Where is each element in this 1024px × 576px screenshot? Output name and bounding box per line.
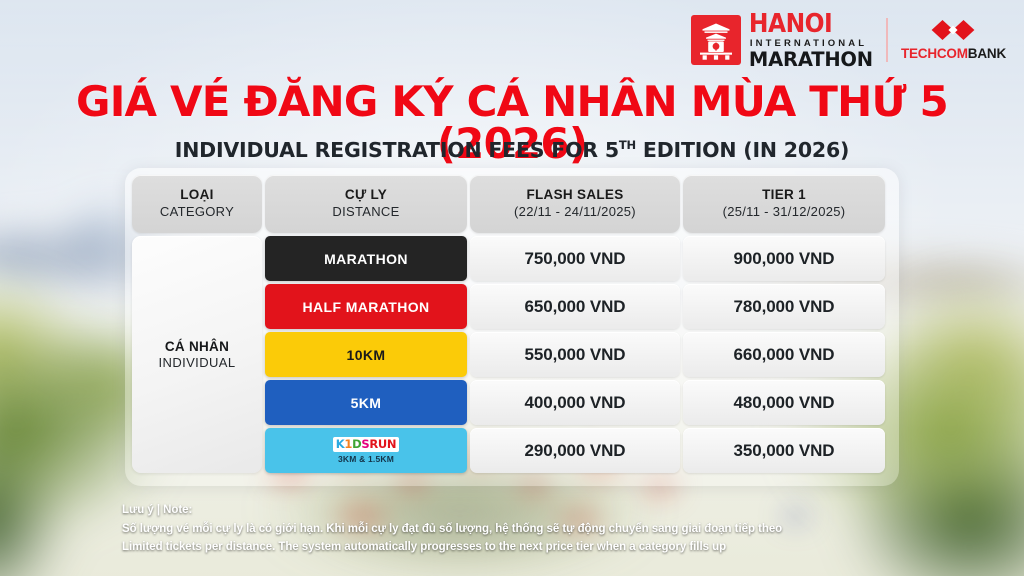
category-cell-individual: CÁ NHÂN INDIVIDUAL bbox=[132, 236, 262, 473]
column-header-category-vi: LOẠI bbox=[180, 187, 213, 204]
table-row: 10KM 550,000 VND 660,000 VND bbox=[265, 332, 892, 377]
table-row: HALF MARATHON 650,000 VND 780,000 VND bbox=[265, 284, 892, 329]
double-diamond-icon bbox=[930, 19, 976, 41]
price-tier-1: 480,000 VND bbox=[683, 380, 885, 425]
distance-label: MARATHON bbox=[324, 251, 408, 267]
price-flash-sales: 400,000 VND bbox=[470, 380, 680, 425]
techcombank-name-dark: BANK bbox=[968, 46, 1006, 61]
pagoda-icon bbox=[691, 15, 741, 65]
techcombank-name-red: TECHCOM bbox=[901, 46, 968, 61]
price-flash-sales: 750,000 VND bbox=[470, 236, 680, 281]
price-tier-1: 660,000 VND bbox=[683, 332, 885, 377]
column-header-distance: CỰ LY DISTANCE bbox=[265, 175, 467, 233]
logo-bar: HANOI INTERNATIONAL MARATHON TECHCOMBANK bbox=[691, 11, 1006, 69]
distance-chip-half-marathon: HALF MARATHON bbox=[265, 284, 467, 329]
category-label-vi: CÁ NHÂN bbox=[165, 339, 229, 354]
distance-label: HALF MARATHON bbox=[302, 299, 429, 315]
footer-note: Lưu ý | Note: Số lượng vé mỗi cự ly là c… bbox=[122, 501, 882, 557]
distance-chip-10km: 10KM bbox=[265, 332, 467, 377]
pricing-table: LOẠI CATEGORY CỰ LY DISTANCE FLASH SALES… bbox=[132, 175, 892, 473]
distance-chip-5km: 5KM bbox=[265, 380, 467, 425]
logo-divider bbox=[886, 18, 888, 62]
column-header-tier-1: TIER 1 (25/11 - 31/12/2025) bbox=[683, 175, 885, 233]
column-header-distance-vi: CỰ LY bbox=[345, 187, 387, 204]
column-header-distance-en: DISTANCE bbox=[332, 204, 399, 221]
subtitle-text-before: INDIVIDUAL REGISTRATION FEES FOR 5 bbox=[175, 138, 619, 162]
subtitle-ordinal-suffix: TH bbox=[619, 138, 636, 152]
kids-run-logo: K1DSRUN bbox=[333, 437, 399, 451]
column-header-flash-sales-dates: (22/11 - 24/11/2025) bbox=[514, 204, 636, 221]
page-subtitle: INDIVIDUAL REGISTRATION FEES FOR 5TH EDI… bbox=[0, 138, 1024, 162]
price-tier-1: 350,000 VND bbox=[683, 428, 885, 473]
kids-logo-word-run: RUN bbox=[369, 437, 396, 451]
column-header-flash-sales-label: FLASH SALES bbox=[526, 187, 623, 204]
table-row: MARATHON 750,000 VND 900,000 VND bbox=[265, 236, 892, 281]
distance-label: 10KM bbox=[347, 347, 386, 363]
price-flash-sales: 290,000 VND bbox=[470, 428, 680, 473]
kids-logo-letter-i: 1 bbox=[344, 437, 352, 451]
table-row: 5KM 400,000 VND 480,000 VND bbox=[265, 380, 892, 425]
kids-run-distance-note: 3KM & 1.5KM bbox=[338, 454, 394, 464]
note-heading: Lưu ý | Note: bbox=[122, 501, 882, 520]
column-header-category-en: CATEGORY bbox=[160, 204, 234, 221]
distance-chip-marathon: MARATHON bbox=[265, 236, 467, 281]
price-flash-sales: 650,000 VND bbox=[470, 284, 680, 329]
note-line-english: Limited tickets per distance. The system… bbox=[122, 538, 882, 557]
column-header-flash-sales: FLASH SALES (22/11 - 24/11/2025) bbox=[470, 175, 680, 233]
table-row: K1DSRUN 3KM & 1.5KM 290,000 VND 350,000 … bbox=[265, 428, 892, 473]
price-tier-1: 780,000 VND bbox=[683, 284, 885, 329]
logo-text-marathon: MARATHON bbox=[749, 50, 873, 70]
logo-text-hanoi: HANOI bbox=[749, 11, 873, 37]
price-tier-1: 900,000 VND bbox=[683, 236, 885, 281]
price-flash-sales: 550,000 VND bbox=[470, 332, 680, 377]
distance-chip-kids-run: K1DSRUN 3KM & 1.5KM bbox=[265, 428, 467, 473]
techcombank-logo: TECHCOMBANK bbox=[901, 19, 1006, 61]
distance-label: 5KM bbox=[351, 395, 382, 411]
category-label-en: INDIVIDUAL bbox=[159, 355, 236, 370]
column-header-tier-1-label: TIER 1 bbox=[762, 187, 806, 204]
subtitle-text-after: EDITION (IN 2026) bbox=[636, 138, 849, 162]
kids-logo-letter-d: D bbox=[352, 437, 361, 451]
table-body: CÁ NHÂN INDIVIDUAL MARATHON 750,000 VND … bbox=[132, 236, 892, 473]
techcombank-wordmark: TECHCOMBANK bbox=[901, 46, 1006, 61]
table-header-row: LOẠI CATEGORY CỰ LY DISTANCE FLASH SALES… bbox=[132, 175, 892, 233]
column-header-category: LOẠI CATEGORY bbox=[132, 175, 262, 233]
hanoi-international-marathon-logo: HANOI INTERNATIONAL MARATHON bbox=[691, 11, 873, 69]
column-header-tier-1-dates: (25/11 - 31/12/2025) bbox=[723, 204, 846, 221]
note-line-vietnamese: Số lượng vé mỗi cự ly là có giới hạn. Kh… bbox=[122, 520, 882, 539]
